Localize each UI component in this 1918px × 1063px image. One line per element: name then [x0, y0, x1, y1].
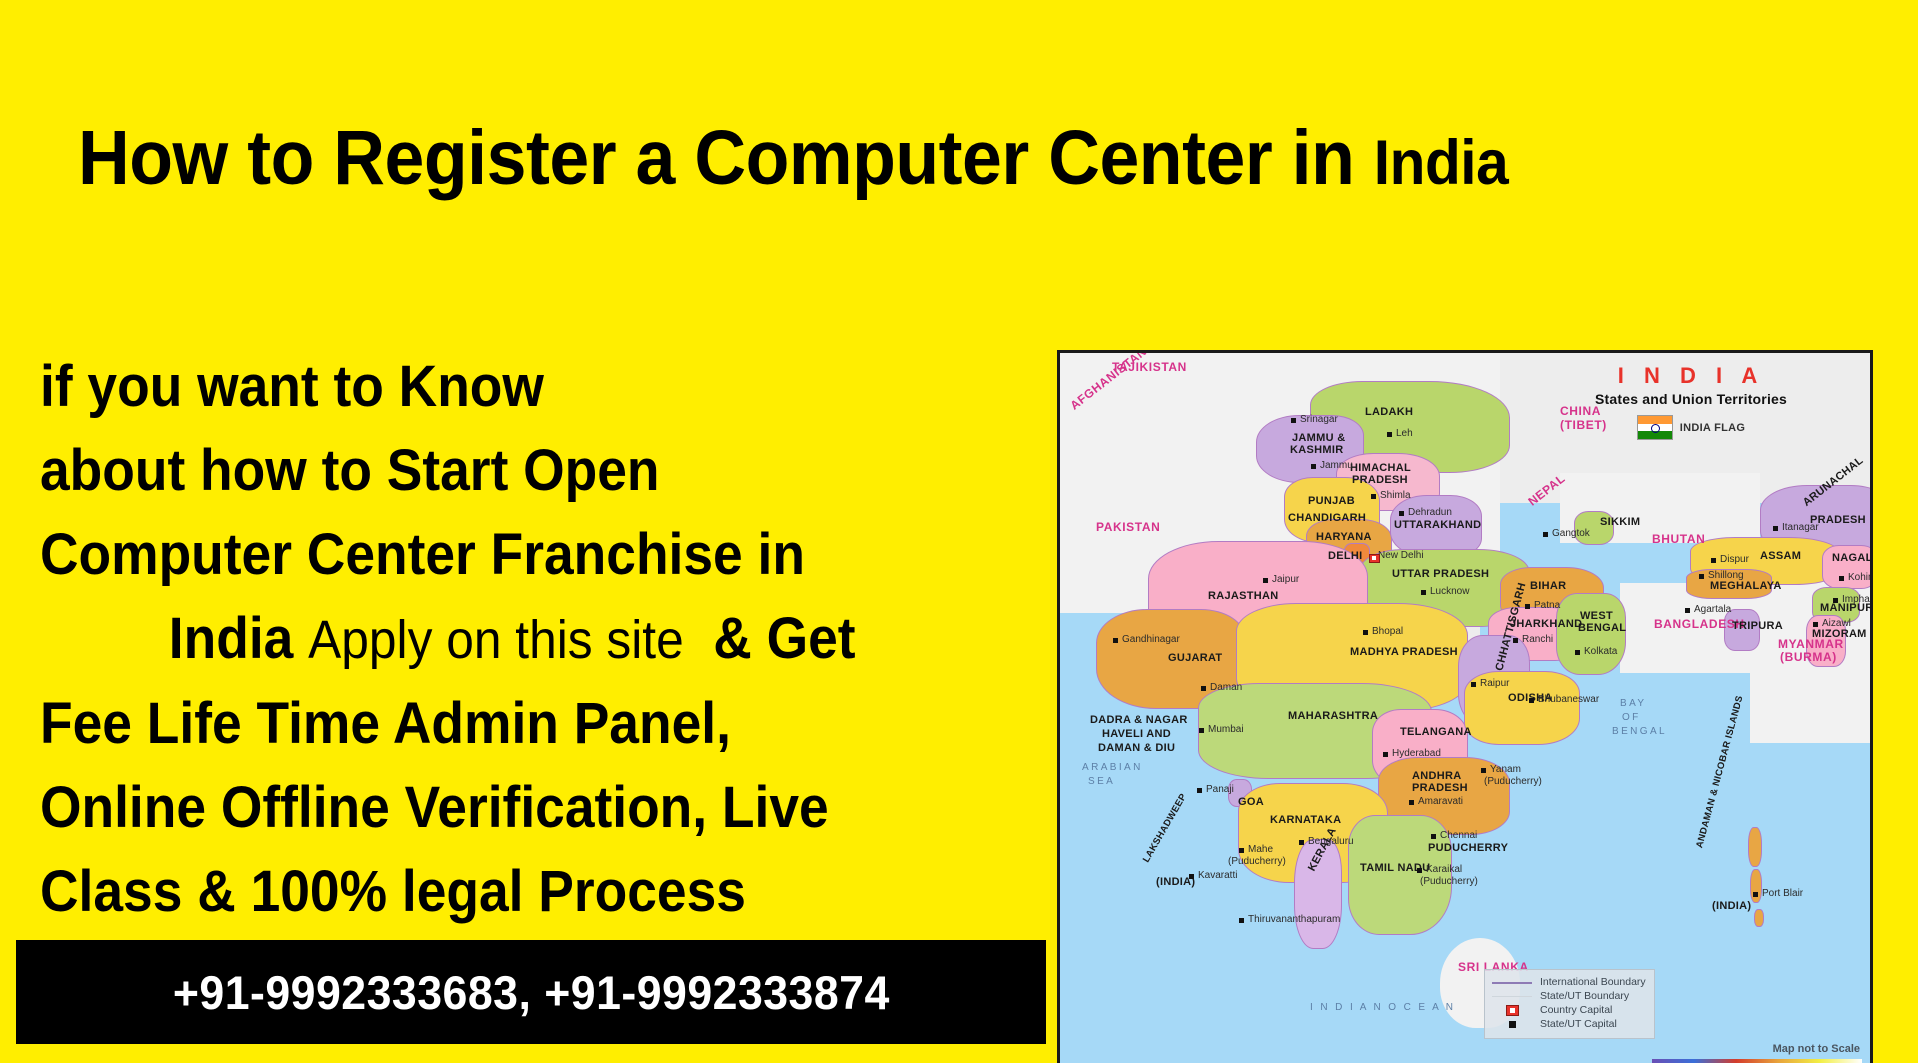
state-capital-marker	[1189, 874, 1194, 879]
map-canvas: I N D I A States and Union Territories I…	[1060, 353, 1870, 1063]
india-map-panel: I N D I A States and Union Territories I…	[1057, 350, 1873, 1063]
region-nicobar	[1754, 909, 1764, 927]
region-odisha	[1464, 671, 1580, 745]
region-kerala	[1294, 839, 1342, 949]
poster-root: How to Register a Computer Center in Ind…	[0, 0, 1918, 1063]
state-capital-marker	[1513, 638, 1518, 643]
state-capital-marker	[1383, 752, 1388, 757]
promo-line-2: about how to Start Open	[40, 429, 960, 513]
state-capital-marker	[1263, 578, 1268, 583]
india-flag-icon	[1637, 415, 1673, 440]
region-mizoram	[1806, 615, 1846, 667]
state-capital-marker	[1399, 511, 1404, 516]
state-capital-marker	[1371, 494, 1376, 499]
state-capital-marker	[1813, 622, 1818, 627]
legend-row: International Boundary	[1491, 976, 1646, 989]
legend-row: Country Capital	[1491, 1004, 1646, 1017]
region-sikkim	[1574, 511, 1614, 545]
india-flag-label: INDIA FLAG	[1680, 422, 1746, 434]
phone-numbers[interactable]: +91-9992333683, +91-9992333874	[173, 965, 890, 1020]
page-title-main: How to Register a Computer Center in	[78, 115, 1374, 201]
state-capital-marker	[1839, 576, 1844, 581]
state-ut-boundary-icon	[1491, 996, 1533, 997]
state-ut-capital-icon	[1491, 1021, 1533, 1028]
region-tripura	[1724, 609, 1760, 651]
international-boundary-icon	[1491, 982, 1533, 984]
promo-line-1: if you want to Know	[40, 345, 960, 429]
state-capital-marker	[1773, 526, 1778, 531]
page-title: How to Register a Computer Center in Ind…	[78, 118, 1715, 203]
map-subtitle: States and Union Territories	[1526, 391, 1856, 407]
state-capital-marker	[1199, 728, 1204, 733]
state-capital-marker	[1431, 834, 1436, 839]
cta-apply-text[interactable]: Apply on this site	[308, 610, 684, 670]
map-title: I N D I A	[1526, 363, 1856, 389]
state-capital-marker	[1575, 650, 1580, 655]
map-legend: International Boundary State/UT Boundary…	[1484, 969, 1655, 1039]
state-capital-marker	[1387, 432, 1392, 437]
state-capital-marker	[1471, 682, 1476, 687]
region-andaman-south	[1750, 869, 1762, 903]
promo-line-3: Computer Center Franchise in	[40, 513, 960, 597]
state-capital-marker	[1833, 598, 1838, 603]
legend-label: International Boundary	[1540, 976, 1646, 989]
state-capital-marker	[1291, 418, 1296, 423]
region-west-bengal	[1556, 593, 1626, 675]
state-capital-marker	[1197, 788, 1202, 793]
map-colour-bar	[1652, 1059, 1862, 1063]
state-capital-marker	[1525, 604, 1530, 609]
state-capital-marker	[1711, 558, 1716, 563]
legend-label: State/UT Capital	[1540, 1018, 1617, 1031]
legend-label: Country Capital	[1540, 1004, 1612, 1017]
promo-line-5: Fee Life Time Admin Panel,	[40, 682, 960, 766]
cta-country-label: India	[169, 606, 294, 671]
region-nagaland	[1822, 545, 1873, 589]
state-capital-marker	[1409, 800, 1414, 805]
state-capital-marker	[1753, 892, 1758, 897]
legend-row: State/UT Capital	[1491, 1018, 1646, 1031]
state-capital-marker	[1311, 464, 1316, 469]
country-capital-icon	[1491, 1005, 1533, 1016]
state-capital-marker	[1417, 868, 1422, 873]
state-capital-marker	[1239, 918, 1244, 923]
state-capital-marker	[1363, 630, 1368, 635]
state-capital-marker	[1529, 698, 1534, 703]
promo-cta-line: India Apply on this site & Get	[40, 597, 960, 682]
state-capital-marker	[1421, 590, 1426, 595]
state-capital-marker	[1201, 686, 1206, 691]
india-flag-row: INDIA FLAG	[1526, 415, 1856, 440]
region-tamil-nadu	[1348, 815, 1452, 935]
page-title-highlight: India	[1374, 128, 1508, 198]
region-andaman-north	[1748, 827, 1762, 867]
region-uttarakhand	[1390, 495, 1482, 557]
promo-line-7: Class & 100% legal Process	[40, 850, 960, 934]
map-scale-note: Map not to Scale	[1773, 1043, 1860, 1055]
promo-line-6: Online Offline Verification, Live	[40, 766, 960, 850]
state-capital-marker	[1299, 840, 1304, 845]
state-capital-marker	[1481, 768, 1486, 773]
promo-copy-block: if you want to Know about how to Start O…	[40, 345, 1040, 934]
cta-and-get-label: & Get	[699, 606, 856, 671]
state-capital-marker	[1543, 532, 1548, 537]
legend-row: State/UT Boundary	[1491, 990, 1646, 1003]
legend-label: State/UT Boundary	[1540, 990, 1629, 1003]
contact-phone-bar[interactable]: +91-9992333683, +91-9992333874	[16, 940, 1046, 1044]
state-capital-marker	[1699, 574, 1704, 579]
state-capital-marker	[1685, 608, 1690, 613]
map-title-block: I N D I A States and Union Territories I…	[1526, 363, 1856, 440]
country-capital-marker	[1369, 554, 1380, 563]
state-capital-marker	[1239, 848, 1244, 853]
state-capital-marker	[1113, 638, 1118, 643]
